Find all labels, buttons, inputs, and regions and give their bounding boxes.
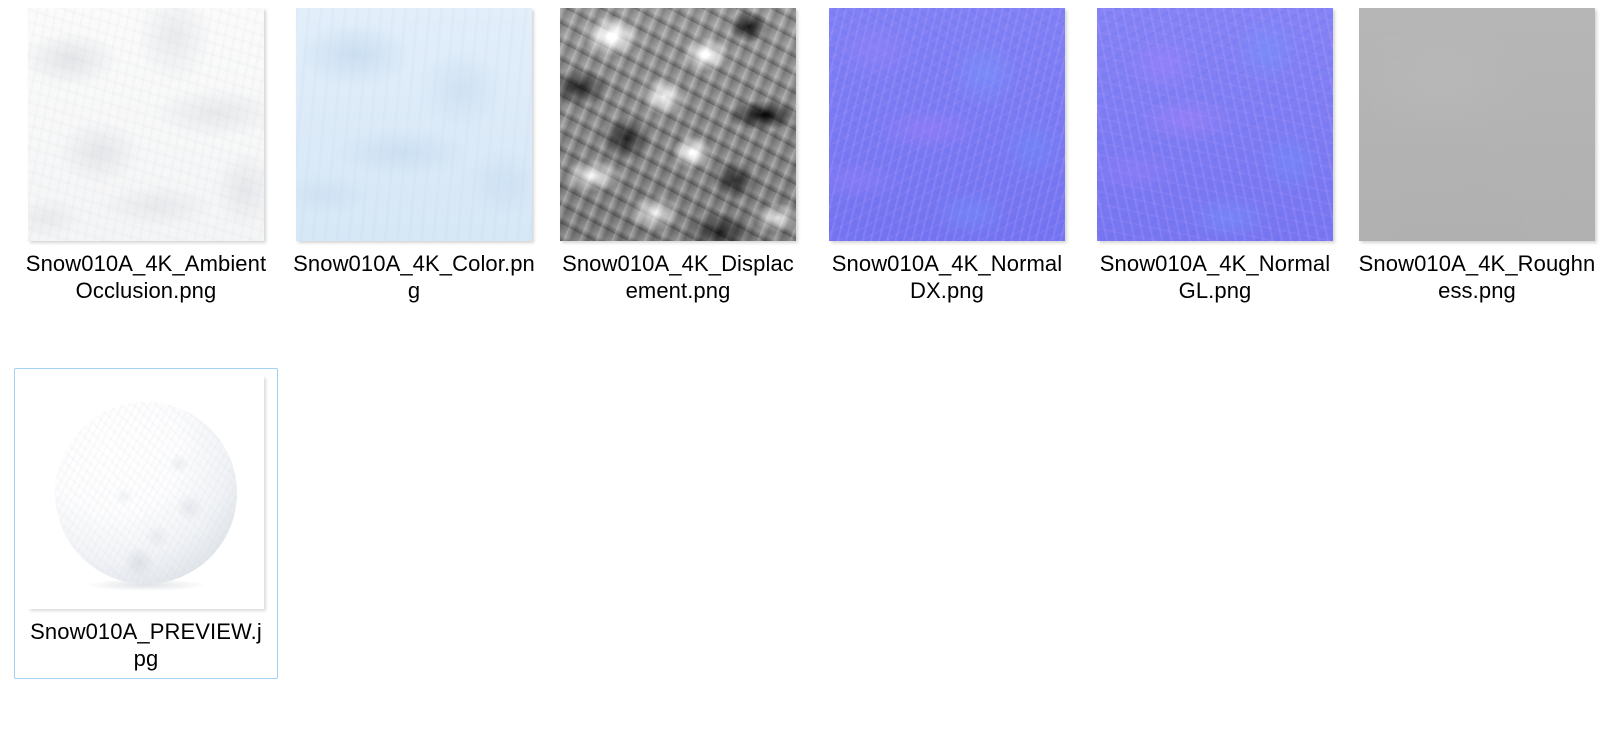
displacement-texture-thumbnail (560, 8, 796, 241)
thumbnail-wrapper (1097, 8, 1333, 241)
normal-dx-texture-thumbnail (829, 8, 1065, 241)
file-name-label: Snow010A_PREVIEW.jpg (24, 618, 268, 672)
color-texture-thumbnail (296, 8, 532, 241)
file-name-label: Snow010A_4K_Roughness.png (1355, 250, 1599, 304)
file-item-roughness[interactable]: Snow010A_4K_Roughness.png (1345, 0, 1609, 311)
file-grid: Snow010A_4K_AmbientOcclusion.png Snow010… (0, 0, 1618, 745)
file-item-color[interactable]: Snow010A_4K_Color.png (282, 0, 546, 311)
file-name-label: Snow010A_4K_NormalDX.png (825, 250, 1069, 304)
thumbnail-wrapper (296, 8, 532, 241)
thumbnail-wrapper (829, 8, 1065, 241)
file-item-preview[interactable]: Snow010A_PREVIEW.jpg (14, 368, 278, 679)
file-name-label: Snow010A_4K_Color.png (292, 250, 536, 304)
file-item-displacement[interactable]: Snow010A_4K_Displacement.png (546, 0, 810, 311)
roughness-texture-thumbnail (1359, 8, 1595, 241)
thumbnail-wrapper (1359, 8, 1595, 241)
thumbnail-wrapper (28, 8, 264, 241)
thumbnail-wrapper (28, 376, 264, 609)
snow-sphere-preview-thumbnail (28, 376, 264, 609)
file-item-normal-gl[interactable]: Snow010A_4K_NormalGL.png (1083, 0, 1347, 311)
file-item-ambient-occlusion[interactable]: Snow010A_4K_AmbientOcclusion.png (14, 0, 278, 311)
file-item-normal-dx[interactable]: Snow010A_4K_NormalDX.png (815, 0, 1079, 311)
snow-sphere (55, 402, 237, 584)
file-name-label: Snow010A_4K_Displacement.png (556, 250, 800, 304)
normal-gl-texture-thumbnail (1097, 8, 1333, 241)
file-name-label: Snow010A_4K_AmbientOcclusion.png (24, 250, 268, 304)
ambient-occlusion-texture-thumbnail (28, 8, 264, 241)
thumbnail-wrapper (560, 8, 796, 241)
file-name-label: Snow010A_4K_NormalGL.png (1093, 250, 1337, 304)
